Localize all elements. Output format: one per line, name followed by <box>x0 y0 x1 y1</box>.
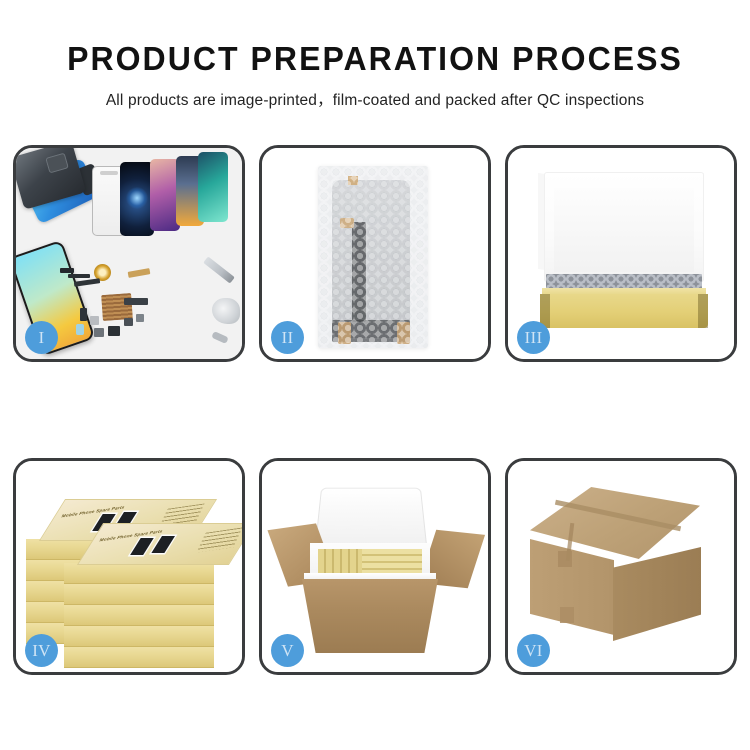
bubble-texture-overlay <box>318 166 428 348</box>
foam-sheet <box>554 188 694 272</box>
process-step-5: V <box>259 458 491 675</box>
box-print-label-front: Mobile Phone Spare Parts <box>99 529 164 543</box>
small-component-3 <box>76 324 84 335</box>
page-title: PRODUCT PREPARATION PROCESS <box>11 40 739 78</box>
flex-cable-part-3 <box>128 268 151 278</box>
stacked-box-front-3 <box>64 605 214 625</box>
process-step-3: III <box>505 145 737 362</box>
step-badge-6: VI <box>517 634 550 667</box>
step-badge-3: III <box>517 321 550 354</box>
stacked-box-front-lid: Mobile Phone Spare Parts <box>77 523 242 565</box>
stacked-box-front-1 <box>64 563 214 583</box>
bubble-wrap-bag <box>318 166 428 348</box>
phone-dark-display <box>120 162 154 236</box>
yellow-box-front <box>540 294 708 328</box>
step-badge-2: II <box>271 321 304 354</box>
box-print-label-rear: Mobile Phone Spare Parts <box>61 505 126 519</box>
step-badge-4: IV <box>25 634 58 667</box>
flex-cable-part-4 <box>124 298 148 305</box>
process-step-2: II <box>259 145 491 362</box>
stacked-box-front-5 <box>64 647 214 667</box>
phone-teal-display <box>198 152 228 222</box>
stacked-box-front-2 <box>64 584 214 604</box>
small-component-6 <box>124 318 133 326</box>
product-preparation-infographic: PRODUCT PREPARATION PROCESS All products… <box>0 0 750 750</box>
small-component-8 <box>60 268 74 273</box>
foam-lid <box>314 488 427 550</box>
screwdriver-tool <box>203 256 235 283</box>
tweezer-tool <box>212 298 240 324</box>
carton-tape-lower <box>560 607 574 623</box>
stacked-box-front-4 <box>64 626 214 646</box>
process-step-4: Mobile Phone Spare Parts Mobile Phone Sp… <box>13 458 245 675</box>
box-window-front-2 <box>151 536 175 553</box>
small-component-4 <box>94 328 104 337</box>
carton-right-face <box>613 547 701 641</box>
step-badge-1: I <box>25 321 58 354</box>
small-component-7 <box>136 314 144 322</box>
small-component-1 <box>80 308 87 321</box>
small-component-5 <box>108 326 120 336</box>
flex-cable-part-1 <box>74 278 100 287</box>
box-print-lines-front <box>196 527 242 552</box>
screw-part <box>211 331 228 344</box>
box-stack: Mobile Phone Spare Parts Mobile Phone Sp… <box>22 477 242 667</box>
small-component-2 <box>90 316 99 325</box>
page-subtitle: All products are image-printed，film-coat… <box>0 88 750 110</box>
carton-tape-upper <box>558 551 572 567</box>
process-step-1: I <box>13 145 245 362</box>
process-step-6: VI <box>505 458 737 675</box>
flex-cable-part-2 <box>68 274 90 278</box>
step-badge-5: V <box>271 634 304 667</box>
process-steps-grid: I II <box>13 145 737 675</box>
carton-body-open <box>302 579 438 653</box>
